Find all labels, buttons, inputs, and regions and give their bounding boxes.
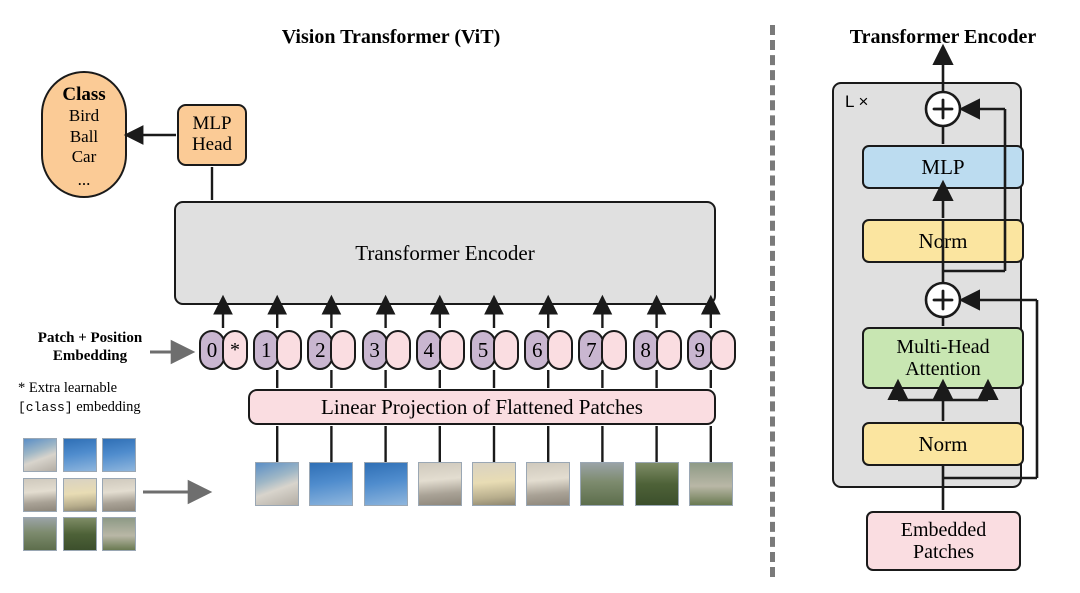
encoder-connectors	[0, 0, 1080, 593]
